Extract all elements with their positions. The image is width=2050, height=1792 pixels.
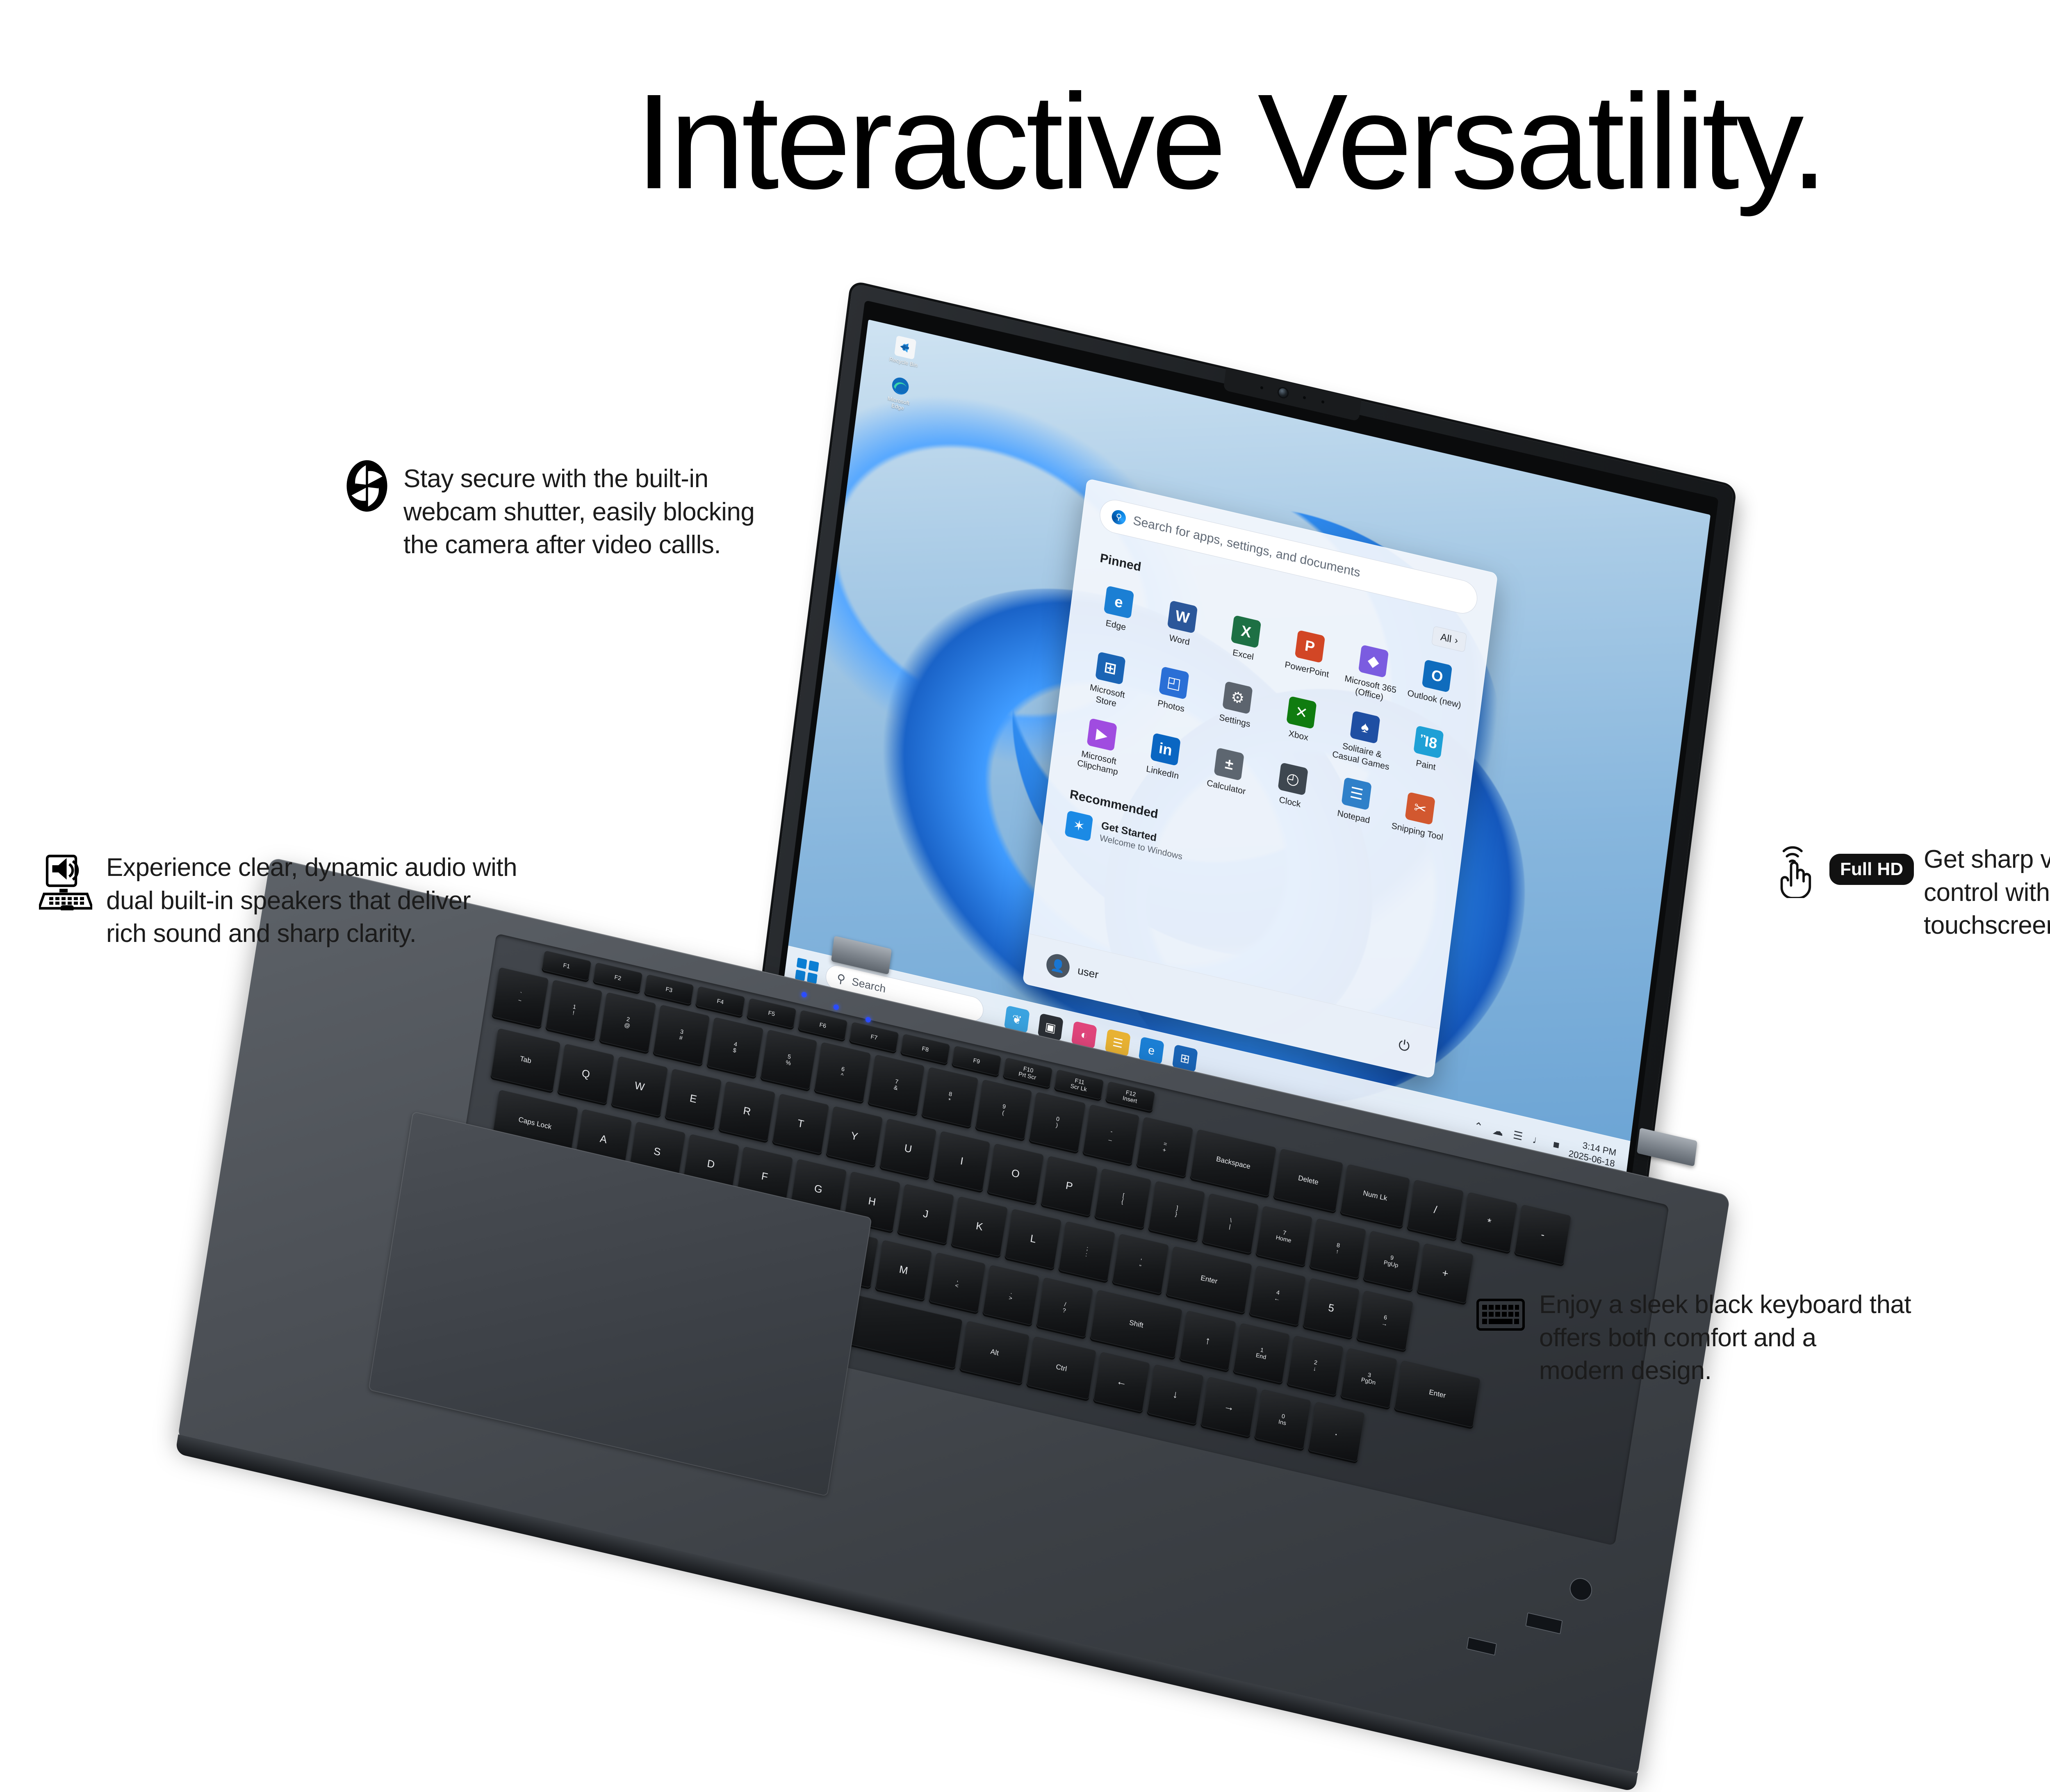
key-u[interactable]: U — [879, 1118, 936, 1179]
key-[interactable]: / ? — [1036, 1277, 1093, 1338]
key-[interactable]: ] } — [1148, 1181, 1205, 1241]
all-apps-label: All — [1440, 631, 1452, 645]
callout-line: Get sharp visuals and intuitive — [1924, 843, 2050, 876]
key-9-pgup[interactable]: 9 PgUp — [1363, 1231, 1420, 1291]
callout-line: Stay secure with the built-in — [403, 463, 754, 496]
user-name: user — [1077, 964, 1100, 982]
page-title: Interactive Versatility. — [0, 74, 2050, 209]
key-f7[interactable]: F7 — [849, 1022, 899, 1052]
app-label: Paint — [1415, 758, 1436, 773]
pinned-app-calculator[interactable]: ±Calculator — [1191, 737, 1263, 816]
key-[interactable]: + — [1417, 1243, 1474, 1304]
app-icon: P — [1295, 629, 1325, 663]
pinned-app-microsoft-365-office[interactable]: ◆Microsoft 365 (Office) — [1336, 634, 1408, 713]
key-1[interactable]: 1 ! — [545, 980, 602, 1040]
webcam-lens-icon — [1278, 387, 1288, 398]
onedrive-icon[interactable]: ☁ — [1492, 1124, 1504, 1139]
key-j[interactable]: J — [897, 1184, 954, 1245]
app-label: Xbox — [1288, 729, 1309, 743]
app-label: Microsoft 365 (Office) — [1340, 673, 1400, 707]
key-[interactable]: ↓ — [1147, 1364, 1204, 1425]
app-icon: ◴ — [1278, 762, 1308, 795]
key-0[interactable]: 0 ) — [1029, 1092, 1086, 1152]
key-[interactable]: - _ — [1082, 1104, 1139, 1165]
start-menu[interactable]: ⚲ Search for apps, settings, and documen… — [1023, 478, 1498, 1078]
app-icon: O — [1422, 659, 1452, 692]
key-5[interactable]: 5 % — [760, 1030, 817, 1090]
app-label: PowerPoint — [1284, 660, 1330, 680]
key-8[interactable]: 8 ↑ — [1309, 1218, 1366, 1279]
laptop-speaker-icon — [39, 849, 92, 910]
callout-line: touchscreen. — [1924, 909, 2050, 942]
callout-line: webcam shutter, easily blocking — [403, 496, 754, 529]
callout-line: dual built-in speakers that deliver — [106, 885, 517, 918]
app-label: Outlook (new) — [1407, 688, 1462, 711]
app-icon: Ἲ8 — [1413, 725, 1444, 759]
key-num-lk[interactable]: Num Lk — [1340, 1164, 1410, 1228]
app-icon: ♠ — [1350, 711, 1380, 744]
chevron-right-icon: › — [1454, 634, 1459, 647]
key-o[interactable]: O — [987, 1143, 1044, 1204]
callout-display-text: Get sharp visuals and intuitive control … — [1924, 843, 2050, 942]
app-label: Clock — [1278, 795, 1301, 810]
key-[interactable]: → — [1200, 1377, 1257, 1437]
key-[interactable]: ' " — [1112, 1233, 1169, 1294]
app-icon: ± — [1214, 747, 1244, 780]
app-icon: ⊞ — [1095, 652, 1125, 685]
key-f12[interactable]: F12 Insert — [1105, 1081, 1155, 1112]
app-icon: ⚙ — [1222, 681, 1253, 714]
power-button[interactable]: ⏻ — [1391, 1032, 1417, 1060]
taskbar-search-placeholder: Search — [851, 975, 886, 995]
key-3-pgdn[interactable]: 3 PgDn — [1340, 1348, 1397, 1409]
pinned-app-microsoft-clipchamp[interactable]: ▶Microsoft Clipchamp — [1064, 708, 1136, 787]
key-r[interactable]: R — [718, 1081, 775, 1142]
key-t[interactable]: T — [772, 1094, 829, 1154]
key-q[interactable]: Q — [557, 1044, 614, 1104]
pinned-app-edge[interactable]: eEdge — [1081, 575, 1153, 654]
app-label: Solitaire & Casual Games — [1331, 739, 1391, 773]
key-[interactable]: - — [1514, 1204, 1571, 1265]
app-icon: ▶ — [1086, 718, 1117, 751]
key-2[interactable]: 2 ↓ — [1287, 1335, 1344, 1396]
pinned-label: Pinned — [1099, 551, 1142, 575]
app-label: Excel — [1232, 647, 1255, 663]
key-2[interactable]: 2 @ — [599, 992, 656, 1053]
key-delete[interactable]: Delete — [1273, 1149, 1343, 1212]
pinned-app-photos[interactable]: ◰Photos — [1137, 657, 1208, 735]
callout-line: modern design. — [1539, 1354, 1911, 1388]
key-f8[interactable]: F8 — [900, 1034, 950, 1064]
avatar: 👤 — [1045, 952, 1071, 980]
key-i[interactable]: I — [933, 1131, 990, 1192]
recycle-bin-icon — [894, 335, 916, 360]
app-icon: ✂ — [1405, 792, 1435, 825]
key-enter[interactable]: Enter — [1166, 1246, 1252, 1314]
pinned-app-snipping-tool[interactable]: ✂Snipping Tool — [1383, 782, 1454, 860]
app-icon: ◰ — [1159, 666, 1189, 700]
camera-shutter-icon — [344, 459, 389, 513]
microphone-pinhole-icon — [1321, 400, 1325, 404]
key-8[interactable]: 8 * — [921, 1067, 978, 1128]
app-label: Notepad — [1337, 808, 1371, 826]
app-icon: ✕ — [1286, 696, 1317, 729]
key-f1[interactable]: F1 — [542, 951, 592, 981]
callout-line: Experience clear, dynamic audio with — [106, 851, 517, 885]
key-ctrl[interactable]: Ctrl — [1026, 1336, 1096, 1400]
user-account-button[interactable]: 👤 user — [1045, 952, 1100, 987]
key-f10[interactable]: F10 Prt Scr — [1003, 1058, 1053, 1088]
app-label: Microsoft Clipchamp — [1068, 746, 1128, 780]
key-f6[interactable]: F6 — [798, 1010, 848, 1040]
key-f4[interactable]: F4 — [695, 986, 745, 1017]
key-k[interactable]: K — [951, 1196, 1008, 1257]
callout-line: rich sound and sharp clarity. — [106, 917, 517, 951]
all-apps-button[interactable]: All › — [1431, 626, 1467, 652]
key-[interactable]: * — [1460, 1192, 1517, 1253]
pinned-app-solitaire-casual-games[interactable]: ♠Solitaire & Casual Games — [1328, 701, 1399, 780]
keyboard-icon — [1476, 1296, 1525, 1334]
callout-line: the camera after video callls. — [403, 529, 754, 562]
app-icon: X — [1231, 615, 1261, 648]
callout-keyboard-text: Enjoy a sleek black keyboard that offers… — [1539, 1288, 1911, 1388]
key-p[interactable]: P — [1041, 1156, 1098, 1217]
app-label: Snipping Tool — [1391, 821, 1444, 843]
key-shift[interactable]: Shift — [1090, 1290, 1182, 1359]
pinned-app-paint[interactable]: Ἲ8Paint — [1391, 716, 1463, 794]
pinned-app-outlook-new[interactable]: OOutlook (new) — [1400, 649, 1471, 728]
key-4[interactable]: 4 ← — [1249, 1265, 1306, 1326]
key-7-home[interactable]: 7 Home — [1255, 1206, 1312, 1266]
pinned-app-microsoft-store[interactable]: ⊞Microsoft Store — [1073, 641, 1145, 720]
pinned-app-xbox[interactable]: ✕Xbox — [1264, 686, 1335, 765]
key-f5[interactable]: F5 — [747, 998, 797, 1028]
key-f9[interactable]: F9 — [952, 1046, 1002, 1076]
key-f11[interactable]: F11 Scr Lk — [1054, 1069, 1104, 1100]
touch-gesture-icon — [1775, 841, 1820, 898]
callout-webcam-text: Stay secure with the built-in webcam shu… — [403, 463, 754, 562]
key-tab[interactable]: Tab — [490, 1028, 560, 1092]
full-hd-badge: Full HD — [1829, 854, 1914, 885]
app-icon: W — [1167, 600, 1198, 633]
callout-webcam-shutter: Stay secure with the built-in webcam shu… — [344, 459, 959, 562]
callout-line: control with the 1920x1080 Full HD — [1924, 876, 2050, 910]
app-icon: ◆ — [1358, 644, 1389, 677]
get-started-icon: ✶ — [1064, 810, 1093, 841]
key-[interactable]: . > — [982, 1265, 1039, 1325]
pinned-app-linkedin[interactable]: inLinkedIn — [1128, 723, 1200, 801]
microphone-pinhole-icon — [1260, 386, 1264, 390]
key-alt[interactable]: Alt — [959, 1321, 1030, 1384]
key-[interactable]: [ { — [1094, 1168, 1151, 1229]
search-icon: ⚲ — [1111, 508, 1127, 526]
key-enter[interactable]: Enter — [1394, 1360, 1481, 1428]
tray-chevron-icon[interactable]: ⌃ — [1473, 1119, 1484, 1134]
app-label: LinkedIn — [1146, 764, 1180, 782]
key-[interactable]: , < — [929, 1252, 986, 1313]
edge-icon — [889, 374, 911, 398]
key-4[interactable]: 4 $ — [706, 1017, 763, 1078]
app-icon: ☰ — [1341, 777, 1371, 810]
key-[interactable]: ` ~ — [492, 967, 549, 1028]
key-9[interactable]: 9 ( — [975, 1079, 1032, 1140]
key-y[interactable]: Y — [826, 1106, 883, 1167]
search-icon: ⚲ — [836, 971, 846, 987]
key-w[interactable]: W — [611, 1056, 668, 1117]
microphone-pinhole-icon — [1303, 396, 1306, 399]
pinned-app-clock[interactable]: ◴Clock — [1255, 752, 1327, 831]
key-6[interactable]: 6 → — [1356, 1290, 1413, 1351]
app-label: Edge — [1105, 618, 1126, 633]
pinned-app-excel[interactable]: XExcel — [1209, 605, 1280, 684]
pinned-app-notepad[interactable]: ☰Notepad — [1319, 767, 1391, 846]
pinned-app-word[interactable]: WWord — [1145, 590, 1217, 669]
key-6[interactable]: 6 ^ — [814, 1042, 871, 1103]
desktop-icon-microsoft-edge[interactable]: Microsoft Edge — [869, 369, 931, 417]
pinned-app-powerpoint[interactable]: PPowerPoint — [1272, 620, 1344, 698]
key-0-ins[interactable]: 0 Ins — [1254, 1389, 1311, 1450]
key-f2[interactable]: F2 — [593, 962, 643, 993]
app-label: Word — [1168, 633, 1190, 647]
callout-audio-speakers: Experience clear, dynamic audio with dua… — [39, 849, 703, 951]
volume-icon[interactable]: ♩ — [1532, 1133, 1544, 1148]
key-[interactable]: / — [1407, 1179, 1464, 1240]
key-3[interactable]: 3 # — [653, 1005, 710, 1065]
app-icon: e — [1104, 585, 1134, 618]
key-[interactable]: . — [1308, 1402, 1365, 1462]
key-[interactable]: ; : — [1058, 1221, 1115, 1282]
key-backspace[interactable]: Backspace — [1190, 1129, 1276, 1197]
battery-icon[interactable]: ■ — [1552, 1138, 1560, 1152]
key-l[interactable]: L — [1004, 1208, 1061, 1269]
pinned-app-settings[interactable]: ⚙Settings — [1200, 671, 1272, 750]
app-label: Microsoft Store — [1077, 680, 1137, 714]
key-1-end[interactable]: 1 End — [1233, 1323, 1290, 1384]
key-e[interactable]: E — [665, 1069, 722, 1129]
key-[interactable]: ← — [1093, 1352, 1150, 1412]
key-f3[interactable]: F3 — [644, 974, 694, 1005]
key-[interactable]: \ | — [1202, 1193, 1259, 1254]
callout-line: offers both comfort and a — [1539, 1322, 1911, 1355]
callout-line: Enjoy a sleek black keyboard that — [1539, 1288, 1911, 1322]
network-icon[interactable]: ☰ — [1512, 1128, 1524, 1143]
desktop-icons: Recycle Bin Microsoft Edge — [867, 331, 939, 429]
desktop-icon-label: Microsoft Edge — [886, 395, 910, 413]
app-label: Photos — [1157, 698, 1185, 715]
callout-audio-text: Experience clear, dynamic audio with dua… — [106, 851, 517, 951]
app-icon: in — [1150, 732, 1180, 766]
key-m[interactable]: M — [875, 1240, 932, 1300]
callout-keyboard: Enjoy a sleek black keyboard that offers… — [1476, 1296, 2017, 1388]
key-[interactable]: ↑ — [1179, 1311, 1236, 1371]
callout-touchscreen-display: Full HD Get sharp visuals and intuitive … — [1775, 841, 2050, 942]
app-label: Calculator — [1206, 778, 1246, 797]
app-label: Settings — [1219, 713, 1251, 730]
key-5[interactable]: 5 — [1303, 1278, 1360, 1338]
key-[interactable]: = + — [1136, 1117, 1193, 1177]
key-7[interactable]: 7 & — [868, 1054, 925, 1115]
